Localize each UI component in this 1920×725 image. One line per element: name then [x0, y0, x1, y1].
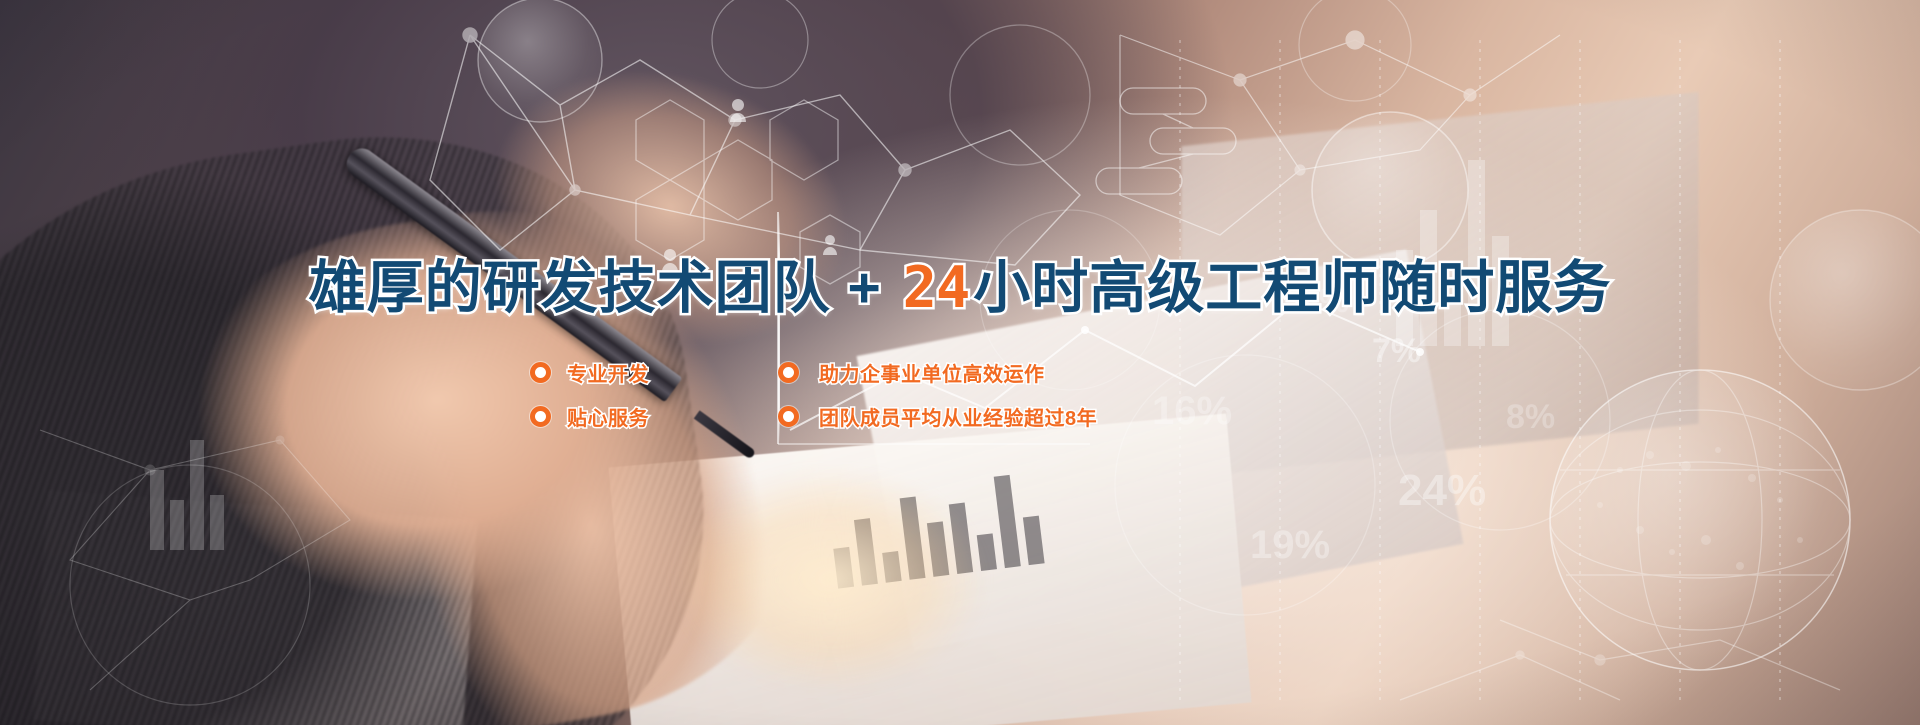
page-title: 雄厚的研发技术团队 + 24小时高级工程师随时服务 [0, 260, 1920, 317]
feature-label-1: 专业开发 [567, 358, 649, 387]
feature-label-3: 贴心服务 [567, 402, 649, 431]
headline-part-two: 小时高级工程师随时服务 [973, 256, 1611, 320]
feature-row-1: 专业开发 助力企事业单位高效运作 [530, 358, 1290, 402]
circle-bullet-icon [530, 362, 551, 383]
feature-item-4: 团队成员平均从业经验超过8年 [778, 402, 1097, 431]
feature-label-4: 团队成员平均从业经验超过8年 [819, 402, 1097, 431]
hero-banner: 3% 7% 16% 24% 19% 8% 雄厚的研发技术团队 + 24小时高级工… [0, 0, 1920, 725]
banner-content: 雄厚的研发技术团队 + 24小时高级工程师随时服务 专业开发 助力企事业单位高效… [0, 0, 1920, 725]
feature-row-2: 贴心服务 团队成员平均从业经验超过8年 [530, 402, 1290, 446]
feature-item-1: 专业开发 [530, 358, 778, 387]
feature-label-2: 助力企事业单位高效运作 [819, 358, 1045, 387]
circle-bullet-icon [778, 406, 799, 427]
feature-item-2: 助力企事业单位高效运作 [778, 358, 1045, 387]
feature-item-3: 贴心服务 [530, 402, 778, 431]
headline-part-one: 雄厚的研发技术团队 + [309, 256, 899, 320]
feature-list: 专业开发 助力企事业单位高效运作 贴心服务 团队成员平均从业经验超过8年 [530, 358, 1290, 446]
headline-highlight-24: 24 [899, 255, 974, 321]
circle-bullet-icon [530, 406, 551, 427]
circle-bullet-icon [778, 362, 799, 383]
